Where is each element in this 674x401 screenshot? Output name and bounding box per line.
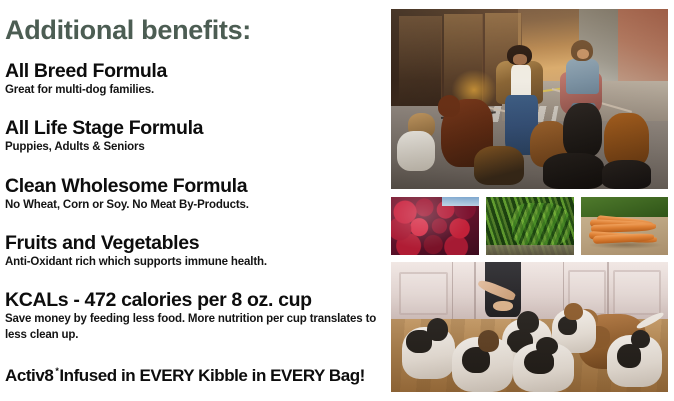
benefit-title: All Breed Formula (5, 61, 383, 81)
activ8-brand-name: Activ8 (5, 366, 53, 385)
benefit-item-kcals: KCALs - 472 calories per 8 oz. cup Save … (5, 290, 383, 343)
berries-photo (391, 197, 479, 255)
benefit-title: KCALs - 472 calories per 8 oz. cup (5, 290, 383, 310)
benefit-title: All Life Stage Formula (5, 118, 383, 138)
benefit-title: Fruits and Vegetables (5, 233, 383, 253)
benefit-item-all-breed-formula: All Breed Formula Great for multi-dog fa… (5, 61, 383, 99)
photo-column (391, 0, 674, 401)
promotional-slide: Additional benefits: All Breed Formula G… (0, 0, 674, 401)
benefit-subtitle: Save money by feeding less food. More nu… (5, 312, 383, 342)
benefits-text-column: Additional benefits: All Breed Formula G… (0, 0, 388, 401)
benefit-title: Clean Wholesome Formula (5, 176, 383, 196)
activ8-tagline-text: Infused in EVERY Kibble in EVERY Bag! (59, 366, 364, 385)
benefit-subtitle: Anti-Oxidant rich which supports immune … (5, 255, 383, 270)
benefit-subtitle: Puppies, Adults & Seniors (5, 140, 383, 155)
benefit-subtitle: No Wheat, Corn or Soy. No Meat By-Produc… (5, 198, 383, 213)
greens-photo (486, 197, 574, 255)
benefit-item-fruits-and-vegetables: Fruits and Vegetables Anti-Oxidant rich … (5, 233, 383, 271)
carrots-photo (581, 197, 668, 255)
benefit-item-all-life-stage-formula: All Life Stage Formula Puppies, Adults &… (5, 118, 383, 156)
activ8-tagline: Activ8*Infused in EVERY Kibble in EVERY … (5, 367, 365, 385)
page-title: Additional benefits: (5, 17, 251, 44)
benefit-item-clean-wholesome-formula: Clean Wholesome Formula No Wheat, Corn o… (5, 176, 383, 214)
benefit-subtitle: Great for multi-dog families. (5, 83, 383, 98)
dog-walkers-photo (391, 9, 668, 189)
puppies-photo (391, 262, 668, 392)
